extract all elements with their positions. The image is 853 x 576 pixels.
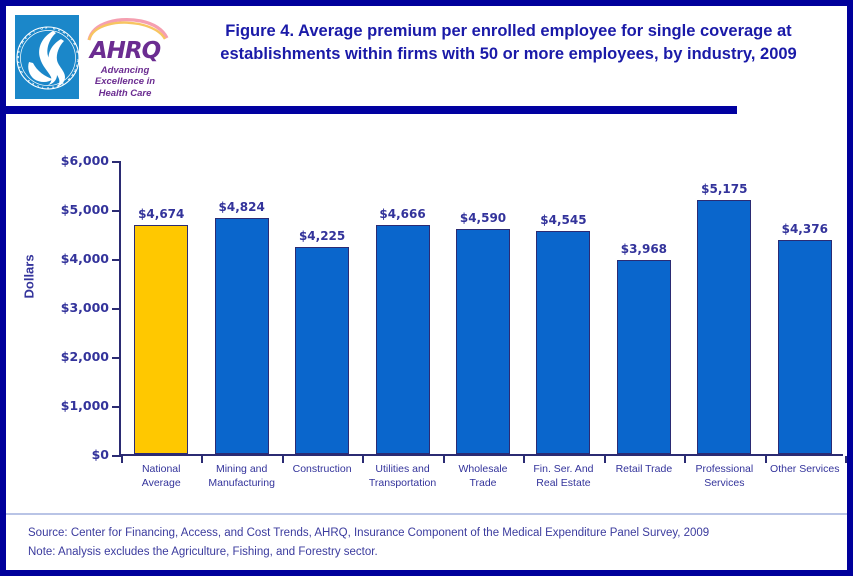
- x-axis-category-label: Fin. Ser. AndReal Estate: [517, 463, 609, 491]
- bar[interactable]: [697, 200, 751, 454]
- bar-column[interactable]: $4,545: [536, 231, 590, 454]
- x-axis-category-line: Manufacturing: [195, 477, 287, 491]
- x-axis-category-line: Real Estate: [517, 477, 609, 491]
- y-tick-label: $1,000: [14, 400, 109, 413]
- bar-value-label: $4,666: [360, 207, 446, 221]
- ahrq-tagline-line2: Excellence in: [95, 76, 155, 87]
- x-axis-category-line: Fin. Ser. And: [517, 463, 609, 477]
- x-axis-category-label: ProfessionalServices: [678, 463, 770, 491]
- y-tick-label: $4,000: [14, 253, 109, 266]
- bar-column[interactable]: $4,666: [376, 225, 430, 454]
- analysis-note: Note: Analysis excludes the Agriculture,…: [28, 543, 838, 562]
- ahrq-acronym: AHRQ: [90, 40, 160, 63]
- footer-divider: [6, 513, 847, 515]
- x-tick-mark: [282, 456, 284, 463]
- y-tick-mark: [112, 406, 119, 408]
- svg-text:H: H: [53, 26, 57, 31]
- y-tick-label: $5,000: [14, 204, 109, 217]
- bar-value-label: $3,968: [601, 242, 687, 256]
- bar[interactable]: [215, 218, 269, 454]
- bar-chart: Dollars $0$1,000$2,000$3,000$4,000$5,000…: [6, 120, 847, 508]
- bar-column[interactable]: $3,968: [617, 260, 671, 454]
- bar-column[interactable]: $4,376: [778, 240, 832, 454]
- x-tick-mark: [684, 456, 686, 463]
- x-axis-line: [119, 454, 843, 456]
- x-axis-category-line: Professional: [678, 463, 770, 477]
- x-axis-category-line: Other Services: [759, 463, 851, 477]
- bar-column[interactable]: $4,590: [456, 229, 510, 454]
- x-axis-category-line: Services: [678, 477, 770, 491]
- figure-footnotes: Source: Center for Financing, Access, an…: [28, 524, 838, 562]
- bar[interactable]: [778, 240, 832, 454]
- x-axis-category-line: Wholesale: [437, 463, 529, 477]
- hhs-seal-icon: D E P A R T M E N T O F H E A: [15, 15, 79, 99]
- ahrq-tagline-line1: Advancing: [101, 65, 150, 76]
- x-axis-category-line: Utilities and: [356, 463, 448, 477]
- figure-title: Figure 4. Average premium per enrolled e…: [186, 20, 831, 67]
- x-axis-category-label: Other Services: [759, 463, 851, 477]
- ahrq-tagline-line3: Health Care: [99, 88, 152, 99]
- y-tick-label: $0: [14, 449, 109, 462]
- bar-value-label: $4,376: [762, 222, 848, 236]
- x-tick-mark: [523, 456, 525, 463]
- y-tick-mark: [112, 161, 119, 163]
- bar-value-label: $4,674: [118, 207, 204, 221]
- x-axis-category-line: Trade: [437, 477, 529, 491]
- y-axis-title: Dollars: [22, 277, 37, 299]
- figure-container: D E P A R T M E N T O F H E A: [0, 0, 853, 576]
- y-tick-label: $2,000: [14, 351, 109, 364]
- x-axis-category-line: Average: [115, 477, 207, 491]
- y-axis-line: [119, 161, 121, 457]
- y-tick-label: $3,000: [14, 302, 109, 315]
- header-divider: [6, 106, 737, 114]
- ahrq-logo: D E P A R T M E N T O F H E A: [14, 14, 172, 100]
- y-tick-label: $6,000: [14, 155, 109, 168]
- x-tick-mark: [765, 456, 767, 463]
- y-tick-mark: [112, 455, 119, 457]
- figure-header: D E P A R T M E N T O F H E A: [6, 6, 847, 104]
- bar-value-label: $4,590: [440, 211, 526, 225]
- x-tick-mark: [362, 456, 364, 463]
- svg-text:U: U: [75, 64, 79, 68]
- y-tick-mark: [112, 357, 119, 359]
- x-tick-mark: [121, 456, 123, 463]
- plot-area: $0$1,000$2,000$3,000$4,000$5,000$6,000 $…: [119, 161, 847, 456]
- x-tick-mark: [443, 456, 445, 463]
- bar-value-label: $5,175: [681, 182, 767, 196]
- bar[interactable]: [456, 229, 510, 454]
- bar-value-label: $4,545: [520, 213, 606, 227]
- bar-column[interactable]: $4,824: [215, 218, 269, 454]
- bar-value-label: $4,225: [279, 229, 365, 243]
- x-axis-category-label: Mining andManufacturing: [195, 463, 287, 491]
- bar[interactable]: [617, 260, 671, 454]
- source-note: Source: Center for Financing, Access, an…: [28, 524, 838, 543]
- bar[interactable]: [134, 225, 188, 454]
- x-axis-category-label: Retail Trade: [598, 463, 690, 477]
- svg-text:R: R: [16, 50, 21, 54]
- bar-value-label: $4,824: [199, 200, 285, 214]
- x-tick-mark: [845, 456, 847, 463]
- ahrq-wordmark: AHRQ Advancing Excellence in Health Care: [79, 15, 171, 99]
- x-axis-category-label: Construction: [276, 463, 368, 477]
- x-axis-category-line: Transportation: [356, 477, 448, 491]
- svg-text:I: I: [42, 85, 44, 89]
- y-tick-mark: [112, 308, 119, 310]
- x-axis-category-line: Mining and: [195, 463, 287, 477]
- x-tick-mark: [604, 456, 606, 463]
- bar-column[interactable]: $4,674: [134, 225, 188, 454]
- x-axis-category-label: NationalAverage: [115, 463, 207, 491]
- bar-column[interactable]: $5,175: [697, 200, 751, 454]
- bar[interactable]: [376, 225, 430, 454]
- svg-text:F: F: [45, 26, 47, 30]
- x-axis-category-line: National: [115, 463, 207, 477]
- x-tick-mark: [201, 456, 203, 463]
- bar[interactable]: [295, 247, 349, 454]
- x-axis-category-label: WholesaleTrade: [437, 463, 529, 491]
- y-tick-mark: [112, 259, 119, 261]
- bar-column[interactable]: $4,225: [295, 247, 349, 454]
- x-axis-category-line: Retail Trade: [598, 463, 690, 477]
- bar[interactable]: [536, 231, 590, 454]
- x-axis-category-label: Utilities andTransportation: [356, 463, 448, 491]
- x-axis-category-line: Construction: [276, 463, 368, 477]
